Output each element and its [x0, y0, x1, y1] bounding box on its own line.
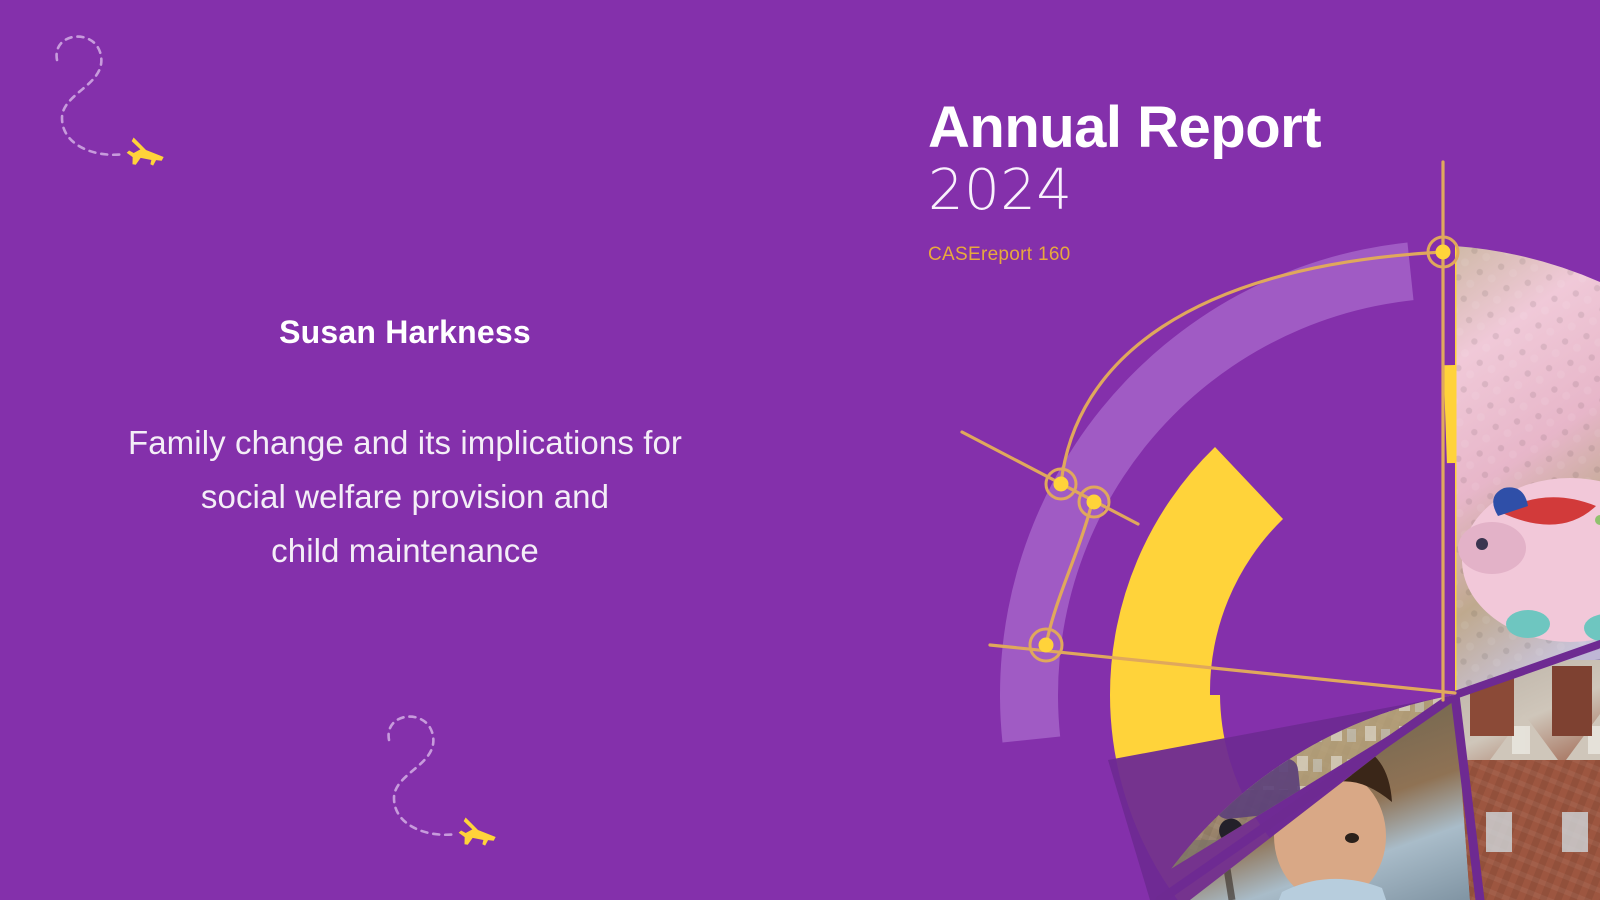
photo-wedge-red-brick-terrace [1440, 660, 1600, 900]
talk-title-line-2: social welfare provision and [55, 470, 755, 524]
photo-wedge-supermarket-family [1080, 230, 1600, 760]
photo-wedge-street-pram [1000, 620, 1480, 900]
photo-wedge-boy-portrait [1160, 700, 1520, 900]
wedge-deep-purple [1108, 695, 1455, 900]
report-heading-block: Annual Report 2024 CASEreport 160 [928, 96, 1448, 266]
diagram-nodes [1030, 237, 1458, 661]
report-year: 2024 [928, 160, 1448, 222]
gold-curve-lower [1046, 503, 1092, 645]
gold-arc [1061, 252, 1443, 484]
gold-diagonal-line [962, 432, 1138, 524]
ring-yellow-left [1110, 695, 1340, 900]
ring-light-purple [955, 242, 1455, 742]
ring-yellow-right [1443, 357, 1600, 539]
gold-horizontal-line [990, 645, 1455, 693]
slide-canvas: Susan Harkness Family change and its imp… [0, 0, 1600, 900]
talk-title-line-1: Family change and its implications for [55, 416, 755, 470]
report-title: Annual Report [928, 96, 1448, 160]
photo-fan [1000, 230, 1600, 900]
concentric-rings [955, 242, 1600, 900]
node-bottom-left [1030, 629, 1062, 661]
talk-title: Family change and its implications for s… [55, 416, 755, 578]
photo-wedge-piggy-bank-money [1430, 240, 1600, 710]
photo-wedge-banknotes-coins [1430, 540, 1600, 900]
wedge-separators [1020, 246, 1600, 900]
talk-title-line-3: child maintenance [55, 524, 755, 578]
photo-wedge-street-houses [1000, 380, 1500, 710]
speaker-name: Susan Harkness [0, 313, 810, 351]
report-code: CASEreport 160 [928, 244, 1448, 266]
ring-yellow-upper-left [1110, 447, 1283, 695]
title-text-column: Susan Harkness Family change and its imp… [0, 0, 810, 900]
node-mid-left [1046, 469, 1076, 499]
node-mid-right [1079, 487, 1109, 517]
